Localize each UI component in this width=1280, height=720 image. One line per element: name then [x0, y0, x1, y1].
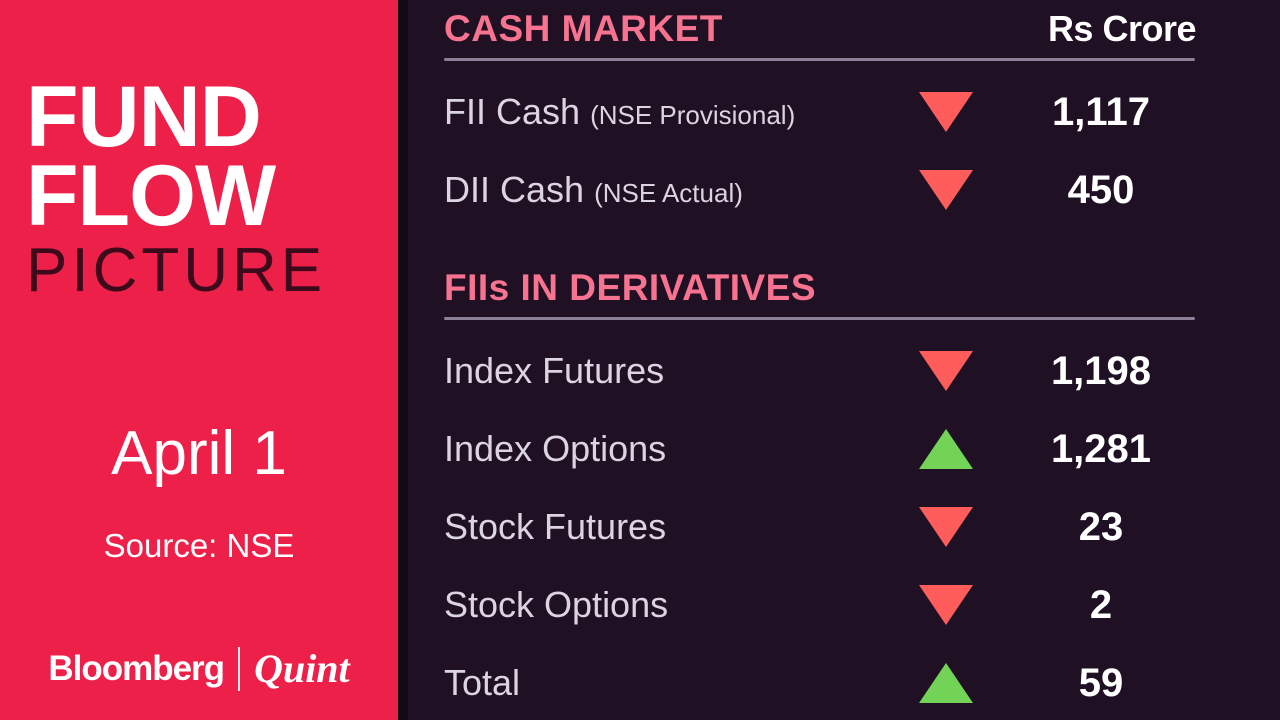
row-label-stock-options: Stock Options [444, 584, 886, 626]
trend-indicator-down [886, 351, 1006, 391]
row-label-text: FII Cash [444, 91, 580, 132]
row-value-stock-options: 2 [1006, 583, 1196, 628]
spacer [444, 320, 1196, 332]
table-row: Index Options 1,281 [444, 410, 1196, 488]
table-row: Total 59 [444, 644, 1196, 720]
brand-title-line-3: PICTURE [26, 240, 376, 302]
triangle-down-icon [919, 585, 973, 625]
trend-indicator-down [886, 585, 1006, 625]
trend-indicator-down [886, 92, 1006, 132]
fund-flow-picture-card: FUND FLOW PICTURE April 1 Source: NSE Bl… [0, 0, 1280, 720]
brand-title-block: FUND FLOW PICTURE [26, 78, 376, 302]
unit-label-rs-crore: Rs Crore [1048, 8, 1196, 50]
panel-seam-divider [398, 0, 408, 720]
table-row: FII Cash (NSE Provisional) 1,117 [444, 73, 1196, 151]
section-fiis-in-derivatives: FIIs IN DERIVATIVES Index Futures 1,198 … [444, 259, 1196, 720]
table-row: DII Cash (NSE Actual) 450 [444, 151, 1196, 229]
triangle-up-icon [919, 429, 973, 469]
spacer [444, 61, 1196, 73]
trend-indicator-up [886, 429, 1006, 469]
row-sublabel-text: (NSE Actual) [594, 178, 743, 208]
triangle-down-icon [919, 170, 973, 210]
row-value-total: 59 [1006, 661, 1196, 706]
logo-bloomberg-wordmark: Bloomberg [48, 649, 224, 689]
branding-panel: FUND FLOW PICTURE April 1 Source: NSE Bl… [0, 0, 398, 720]
row-value-stock-futures: 23 [1006, 505, 1196, 550]
publisher-logo: Bloomberg Quint [0, 645, 398, 692]
table-row: Stock Options 2 [444, 566, 1196, 644]
row-label-index-futures: Index Futures [444, 350, 886, 392]
logo-quint-wordmark: Quint [254, 645, 350, 692]
row-value-index-futures: 1,198 [1006, 349, 1196, 394]
triangle-down-icon [919, 351, 973, 391]
row-label-stock-futures: Stock Futures [444, 506, 886, 548]
brand-title-line-1: FUND [26, 78, 376, 157]
row-value-fii-cash: 1,117 [1006, 90, 1196, 135]
row-sublabel-text: (NSE Provisional) [590, 100, 795, 130]
row-label-dii-cash: DII Cash (NSE Actual) [444, 169, 886, 211]
triangle-down-icon [919, 92, 973, 132]
trend-indicator-down [886, 170, 1006, 210]
spacer [444, 229, 1196, 259]
section-title-cash-market: CASH MARKET [444, 8, 723, 50]
row-label-index-options: Index Options [444, 428, 886, 470]
section-title-derivatives: FIIs IN DERIVATIVES [444, 267, 816, 309]
brand-title-line-2: FLOW [26, 157, 376, 236]
data-panel: CASH MARKET Rs Crore FII Cash (NSE Provi… [408, 0, 1280, 720]
row-value-dii-cash: 450 [1006, 168, 1196, 213]
section-header-derivatives: FIIs IN DERIVATIVES [444, 259, 1196, 317]
row-value-index-options: 1,281 [1006, 427, 1196, 472]
fund-flow-table: CASH MARKET Rs Crore FII Cash (NSE Provi… [444, 0, 1196, 720]
row-label-text: DII Cash [444, 169, 584, 210]
source-label: Source: NSE [0, 527, 398, 565]
trend-indicator-down [886, 507, 1006, 547]
triangle-up-icon [919, 663, 973, 703]
logo-divider [238, 647, 240, 691]
trend-indicator-up [886, 663, 1006, 703]
date-label: April 1 [0, 418, 398, 489]
section-cash-market: CASH MARKET Rs Crore FII Cash (NSE Provi… [444, 0, 1196, 229]
table-row: Index Futures 1,198 [444, 332, 1196, 410]
triangle-down-icon [919, 507, 973, 547]
table-row: Stock Futures 23 [444, 488, 1196, 566]
row-label-total: Total [444, 662, 886, 704]
section-header-cash-market: CASH MARKET Rs Crore [444, 0, 1196, 58]
row-label-fii-cash: FII Cash (NSE Provisional) [444, 91, 886, 133]
